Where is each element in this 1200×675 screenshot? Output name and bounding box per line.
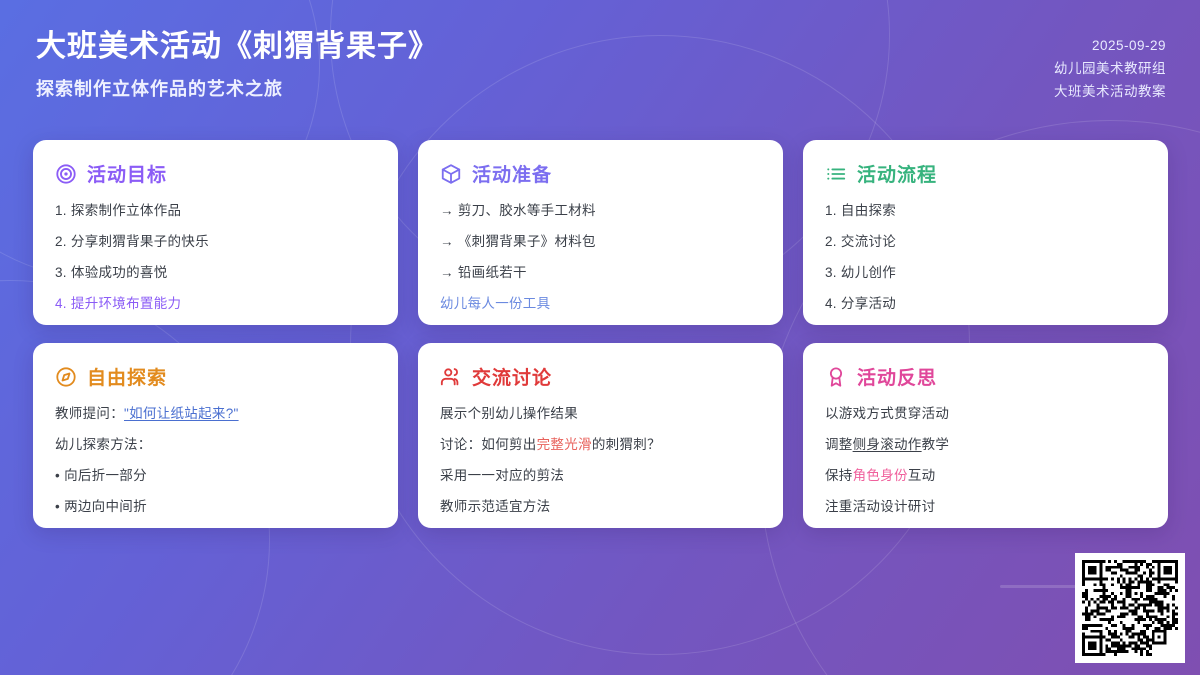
card-line: 注重活动设计研讨 <box>825 497 1146 518</box>
card-line: 采用一一对应的剪法 <box>440 466 761 487</box>
card-line: 4. 分享活动 <box>825 294 1146 315</box>
plain-text: 互动 <box>908 468 936 483</box>
card-line: 讨论：如何剪出完整光滑的刺猬刺？ <box>440 435 761 456</box>
highlighted-text: "如何让纸站起来?" <box>124 406 239 421</box>
highlighted-text: 4. 提升环境布置能力 <box>55 296 181 311</box>
card-line: → 《刺猬背果子》材料包 <box>440 232 761 253</box>
plain-text: 1. 自由探索 <box>825 203 896 218</box>
plain-text: 3. 幼儿创作 <box>825 265 896 280</box>
award-icon <box>825 366 847 388</box>
qr-code[interactable] <box>1075 553 1185 663</box>
plain-text: → 《刺猬背果子》材料包 <box>440 234 596 249</box>
card-line: → 铅画纸若干 <box>440 263 761 284</box>
plain-text: 以游戏方式贯穿活动 <box>825 406 949 421</box>
card-explore[interactable]: 自由探索教师提问："如何让纸站起来?"幼儿探索方法：• 向后折一部分• 两边向中… <box>33 343 398 528</box>
highlighted-text: 完整光滑 <box>537 437 592 452</box>
plain-text: 4. 分享活动 <box>825 296 896 311</box>
card-discuss[interactable]: 交流讨论展示个别幼儿操作结果讨论：如何剪出完整光滑的刺猬刺？采用一一对应的剪法教… <box>418 343 783 528</box>
card-line: 1. 自由探索 <box>825 201 1146 222</box>
card-header: 活动流程 <box>825 160 1146 187</box>
plain-text: 调整 <box>825 437 853 452</box>
card-title: 活动流程 <box>857 160 937 187</box>
plain-text: 幼儿探索方法： <box>55 437 152 452</box>
card-header: 活动准备 <box>440 160 761 187</box>
card-line: • 向后折一部分 <box>55 466 376 487</box>
header-titles: 大班美术活动《刺猬背果子》 探索制作立体作品的艺术之旅 <box>36 28 439 101</box>
plain-text: 的刺猬刺？ <box>592 437 661 452</box>
header-meta: 2025-09-29 幼儿园美术教研组 大班美术活动教案 <box>1054 28 1166 104</box>
page-title: 大班美术活动《刺猬背果子》 <box>36 28 439 66</box>
card-body: 教师提问："如何让纸站起来?"幼儿探索方法：• 向后折一部分• 两边向中间折 <box>55 404 376 518</box>
plain-text: 讨论：如何剪出 <box>440 437 537 452</box>
card-line: 调整侧身滚动作教学 <box>825 435 1146 456</box>
plain-text: 2. 交流讨论 <box>825 234 896 249</box>
card-body: 展示个别幼儿操作结果讨论：如何剪出完整光滑的刺猬刺？采用一一对应的剪法教师示范适… <box>440 404 761 518</box>
highlighted-text: 侧身滚动作 <box>853 437 922 452</box>
card-line: 3. 体验成功的喜悦 <box>55 263 376 284</box>
card-line: 幼儿探索方法： <box>55 435 376 456</box>
card-line: • 两边向中间折 <box>55 497 376 518</box>
card-title: 自由探索 <box>87 363 167 390</box>
card-line: 以游戏方式贯穿活动 <box>825 404 1146 425</box>
list-icon <box>825 163 847 185</box>
card-reflect[interactable]: 活动反思以游戏方式贯穿活动调整侧身滚动作教学保持角色身份互动注重活动设计研讨 <box>803 343 1168 528</box>
card-goals[interactable]: 活动目标1. 探索制作立体作品2. 分享刺猬背果子的快乐3. 体验成功的喜悦4.… <box>33 140 398 325</box>
card-line: 3. 幼儿创作 <box>825 263 1146 284</box>
plain-text: 2. 分享刺猬背果子的快乐 <box>55 234 209 249</box>
plain-text: • 向后折一部分 <box>55 468 147 483</box>
card-body: 1. 探索制作立体作品2. 分享刺猬背果子的快乐3. 体验成功的喜悦4. 提升环… <box>55 201 376 315</box>
card-header: 自由探索 <box>55 363 376 390</box>
card-line: 教师示范适宜方法 <box>440 497 761 518</box>
card-flow[interactable]: 活动流程1. 自由探索2. 交流讨论3. 幼儿创作4. 分享活动 <box>803 140 1168 325</box>
card-line: 4. 提升环境布置能力 <box>55 294 376 315</box>
card-line: 保持角色身份互动 <box>825 466 1146 487</box>
plain-text: 3. 体验成功的喜悦 <box>55 265 168 280</box>
compass-icon <box>55 366 77 388</box>
card-body: 1. 自由探索2. 交流讨论3. 幼儿创作4. 分享活动 <box>825 201 1146 315</box>
target-icon <box>55 163 77 185</box>
plain-text: 展示个别幼儿操作结果 <box>440 406 578 421</box>
card-prep[interactable]: 活动准备→ 剪刀、胶水等手工材料→ 《刺猬背果子》材料包→ 铅画纸若干幼儿每人一… <box>418 140 783 325</box>
card-header: 活动反思 <box>825 363 1146 390</box>
package-icon <box>440 163 462 185</box>
card-grid: 活动目标1. 探索制作立体作品2. 分享刺猬背果子的快乐3. 体验成功的喜悦4.… <box>33 140 1167 528</box>
plain-text: 采用一一对应的剪法 <box>440 468 564 483</box>
card-line: 2. 交流讨论 <box>825 232 1146 253</box>
card-line: 2. 分享刺猬背果子的快乐 <box>55 232 376 253</box>
slide-header: 大班美术活动《刺猬背果子》 探索制作立体作品的艺术之旅 2025-09-29 幼… <box>0 0 1200 128</box>
qr-code-image <box>1082 560 1178 656</box>
plain-text: → 剪刀、胶水等手工材料 <box>440 203 596 218</box>
users-icon <box>440 366 462 388</box>
card-line: 展示个别幼儿操作结果 <box>440 404 761 425</box>
card-title: 活动目标 <box>87 160 167 187</box>
plain-text: 教学 <box>922 437 950 452</box>
plain-text: 注重活动设计研讨 <box>825 499 935 514</box>
plain-text: • 两边向中间折 <box>55 499 147 514</box>
card-header: 活动目标 <box>55 160 376 187</box>
card-header: 交流讨论 <box>440 363 761 390</box>
page-subtitle: 探索制作立体作品的艺术之旅 <box>36 75 439 101</box>
card-line: → 剪刀、胶水等手工材料 <box>440 201 761 222</box>
header-org: 幼儿园美术教研组 <box>1054 57 1166 80</box>
highlighted-text: 角色身份 <box>853 468 908 483</box>
plain-text: 教师示范适宜方法 <box>440 499 550 514</box>
plain-text: 1. 探索制作立体作品 <box>55 203 181 218</box>
plain-text: 保持 <box>825 468 853 483</box>
plain-text: → 铅画纸若干 <box>440 265 527 280</box>
card-title: 交流讨论 <box>472 363 552 390</box>
highlighted-text: 幼儿每人一份工具 <box>440 296 550 311</box>
card-title: 活动反思 <box>857 363 937 390</box>
header-doctype: 大班美术活动教案 <box>1054 80 1166 103</box>
header-date: 2025-09-29 <box>1054 34 1166 57</box>
card-body: → 剪刀、胶水等手工材料→ 《刺猬背果子》材料包→ 铅画纸若干幼儿每人一份工具 <box>440 201 761 315</box>
plain-text: 教师提问： <box>55 406 124 421</box>
card-body: 以游戏方式贯穿活动调整侧身滚动作教学保持角色身份互动注重活动设计研讨 <box>825 404 1146 518</box>
card-line: 幼儿每人一份工具 <box>440 294 761 315</box>
card-line: 教师提问："如何让纸站起来?" <box>55 404 376 425</box>
card-title: 活动准备 <box>472 160 552 187</box>
card-line: 1. 探索制作立体作品 <box>55 201 376 222</box>
